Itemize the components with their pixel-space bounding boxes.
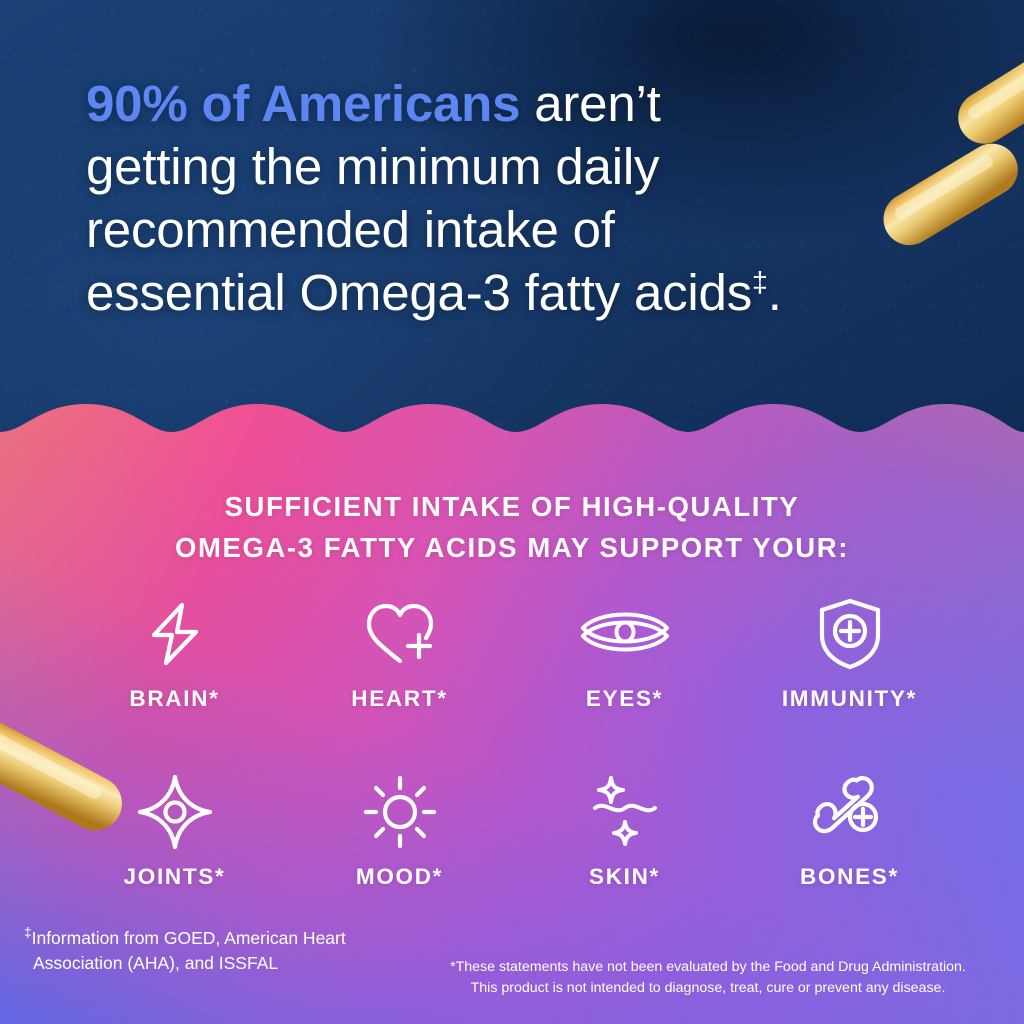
- subheading: SUFFICIENT INTAKE OF HIGH-QUALITY OMEGA-…: [0, 486, 1024, 568]
- benefit-item-immunity: IMMUNITY*: [737, 596, 962, 712]
- headline-line4: essential Omega-3 fatty acids: [86, 264, 752, 321]
- benefit-item-brain: BRAIN*: [62, 596, 287, 712]
- benefit-label: JOINTS*: [124, 864, 226, 890]
- benefits-grid: BRAIN* HEART* EYES*: [62, 596, 962, 890]
- subheading-line2: OMEGA-3 FATTY ACIDS MAY SUPPORT YOUR:: [0, 527, 1024, 568]
- benefit-label: SKIN*: [589, 864, 660, 890]
- omega3-infographic: 90% of Americans aren’t getting the mini…: [0, 0, 1024, 1024]
- benefit-label: BONES*: [800, 864, 899, 890]
- benefit-item-eyes: EYES*: [512, 596, 737, 712]
- lightning-bolt-icon: [142, 596, 208, 672]
- heart-plus-icon: [363, 596, 437, 672]
- four-point-star-icon: [137, 774, 213, 850]
- eye-icon: [579, 596, 671, 672]
- benefit-label: IMMUNITY*: [782, 686, 917, 712]
- shield-plus-icon: [816, 596, 884, 672]
- headline: 90% of Americans aren’t getting the mini…: [86, 72, 966, 324]
- benefit-item-mood: MOOD*: [287, 774, 512, 890]
- headline-line2: getting the minimum daily: [86, 138, 659, 195]
- benefit-label: EYES*: [586, 686, 663, 712]
- benefit-item-joints: JOINTS*: [62, 774, 287, 890]
- bone-plus-icon: [811, 774, 889, 850]
- headline-period: .: [768, 264, 782, 321]
- benefit-item-heart: HEART*: [287, 596, 512, 712]
- headline-footnote-marker: ‡: [752, 267, 768, 299]
- headline-line1-rest: aren’t: [520, 75, 660, 132]
- benefit-label: BRAIN*: [129, 686, 219, 712]
- fda-disclaimer: *These statements have not been evaluate…: [408, 957, 1008, 998]
- benefit-item-bones: BONES*: [737, 774, 962, 890]
- subheading-line1: SUFFICIENT INTAKE OF HIGH-QUALITY: [0, 486, 1024, 527]
- fda-disclaimer-line1: *These statements have not been evaluate…: [408, 957, 1008, 978]
- sun-icon: [363, 774, 437, 850]
- benefit-label: HEART*: [351, 686, 447, 712]
- fda-disclaimer-line2: This product is not intended to diagnose…: [408, 978, 1008, 999]
- headline-accent: 90% of Americans: [86, 75, 520, 132]
- footnote-sources-text: Information from GOED, American Heart As…: [32, 928, 346, 973]
- headline-line3: recommended intake of: [86, 201, 615, 258]
- benefit-item-skin: SKIN*: [512, 774, 737, 890]
- footnote-dagger-marker: ‡: [24, 925, 32, 940]
- footnote-sources: ‡Information from GOED, American Heart A…: [24, 926, 363, 976]
- sparkle-wave-icon: [589, 774, 661, 850]
- benefit-label: MOOD*: [356, 864, 443, 890]
